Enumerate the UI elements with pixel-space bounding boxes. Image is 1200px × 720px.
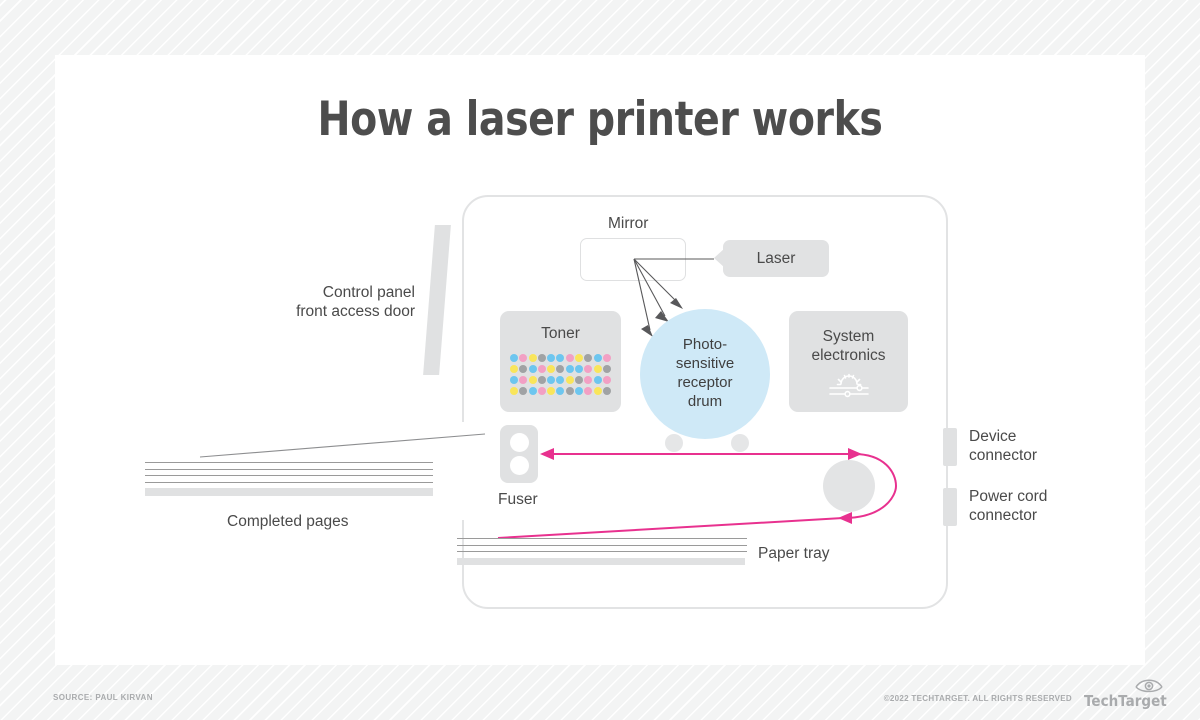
pickup-roller — [823, 460, 875, 512]
toner-dot-cyan — [547, 376, 555, 384]
toner-dot-gray — [519, 387, 527, 395]
stack-base — [145, 488, 433, 496]
toner-dot-cyan — [529, 365, 537, 373]
toner-dot-magenta — [603, 376, 611, 384]
system-electronics-label-line1: System — [789, 327, 908, 346]
paper-tray-label: Paper tray — [758, 545, 830, 564]
toner-dot-cyan — [547, 354, 555, 362]
drum-roller-right — [731, 434, 749, 452]
toner-dot-yellow — [566, 376, 574, 384]
control-panel-label: Control panel front access door — [287, 284, 415, 322]
device-connector-tab — [943, 428, 957, 466]
toner-dot-gray — [566, 387, 574, 395]
toner-dot-gray — [538, 376, 546, 384]
techtarget-logo-text: TechTarget — [1084, 692, 1167, 710]
mirror-label: Mirror — [608, 215, 648, 234]
toner-dot-cyan — [575, 387, 583, 395]
toner-dot-cyan — [594, 376, 602, 384]
toner-dot-gray — [556, 365, 564, 373]
toner-dot-yellow — [547, 365, 555, 373]
toner-dot-cyan — [566, 365, 574, 373]
toner-dot-cyan — [594, 354, 602, 362]
toner-dot-gray — [603, 387, 611, 395]
fuser-box — [500, 425, 538, 483]
toner-dot-magenta — [603, 354, 611, 362]
copyright-notice: ©2022 TECHTARGET. ALL RIGHTS RESERVED — [884, 694, 1072, 703]
toner-dot-cyan — [556, 387, 564, 395]
toner-dot-magenta — [584, 387, 592, 395]
toner-dot-cyan — [556, 354, 564, 362]
toner-dot-magenta — [519, 354, 527, 362]
toner-dot-magenta — [584, 376, 592, 384]
toner-dot-magenta — [566, 354, 574, 362]
device-connector-label-line1: Device — [969, 428, 1037, 447]
paper-tray-stack — [457, 538, 747, 565]
drum-roller-left — [665, 434, 683, 452]
toner-dot-grid — [510, 352, 612, 396]
mirror-box — [580, 238, 686, 281]
toner-dot-yellow — [529, 354, 537, 362]
fuser-roller-top — [510, 433, 529, 452]
toner-dot-yellow — [547, 387, 555, 395]
device-connector-label: Device connector — [969, 428, 1037, 466]
drum-label-line3: receptor — [676, 374, 734, 393]
front-access-door-bar — [423, 225, 451, 375]
gear-settings-icon — [825, 371, 873, 401]
techtarget-logo: TechTarget — [1080, 676, 1180, 712]
photosensitive-drum: Photo- sensitive receptor drum — [640, 309, 770, 439]
fuser-roller-bottom — [510, 456, 529, 475]
toner-dot-cyan — [575, 365, 583, 373]
toner-dot-cyan — [510, 376, 518, 384]
system-electronics-box: System electronics — [789, 311, 908, 412]
toner-box: Toner — [500, 311, 621, 412]
drum-label-line1: Photo- — [676, 336, 734, 355]
completed-pages-label: Completed pages — [227, 513, 349, 532]
control-panel-label-line1: Control panel — [287, 284, 415, 303]
source-credit: SOURCE: PAUL KIRVAN — [53, 693, 153, 702]
paper-exit-notch — [455, 422, 471, 520]
toner-dot-yellow — [594, 365, 602, 373]
completed-pages-stack — [145, 462, 433, 496]
toner-dot-yellow — [594, 387, 602, 395]
stack-base — [457, 558, 745, 565]
toner-dot-gray — [575, 376, 583, 384]
toner-dot-magenta — [519, 376, 527, 384]
toner-dot-magenta — [538, 387, 546, 395]
power-cord-connector-tab — [943, 488, 957, 526]
system-electronics-label-line2: electronics — [789, 346, 908, 365]
toner-dot-cyan — [556, 376, 564, 384]
toner-dot-magenta — [584, 365, 592, 373]
toner-dot-cyan — [510, 354, 518, 362]
power-cord-connector-label-line2: connector — [969, 507, 1047, 526]
device-connector-label-line2: connector — [969, 447, 1037, 466]
laser-box: Laser — [723, 240, 829, 277]
fuser-label: Fuser — [498, 491, 538, 510]
drum-label-line2: sensitive — [676, 355, 734, 374]
power-cord-connector-label-line1: Power cord — [969, 488, 1047, 507]
toner-dot-yellow — [529, 376, 537, 384]
toner-dot-gray — [603, 365, 611, 373]
toner-dot-yellow — [510, 365, 518, 373]
drum-label-line4: drum — [676, 393, 734, 412]
toner-label: Toner — [500, 325, 621, 343]
toner-dot-gray — [584, 354, 592, 362]
toner-dot-yellow — [510, 387, 518, 395]
toner-dot-gray — [519, 365, 527, 373]
toner-dot-gray — [538, 354, 546, 362]
toner-dot-yellow — [575, 354, 583, 362]
toner-dot-cyan — [529, 387, 537, 395]
control-panel-label-line2: front access door — [287, 303, 415, 322]
toner-dot-magenta — [538, 365, 546, 373]
power-cord-connector-label: Power cord connector — [969, 488, 1047, 526]
printer-diagram: Control panel front access door Mirror L… — [0, 0, 1200, 720]
